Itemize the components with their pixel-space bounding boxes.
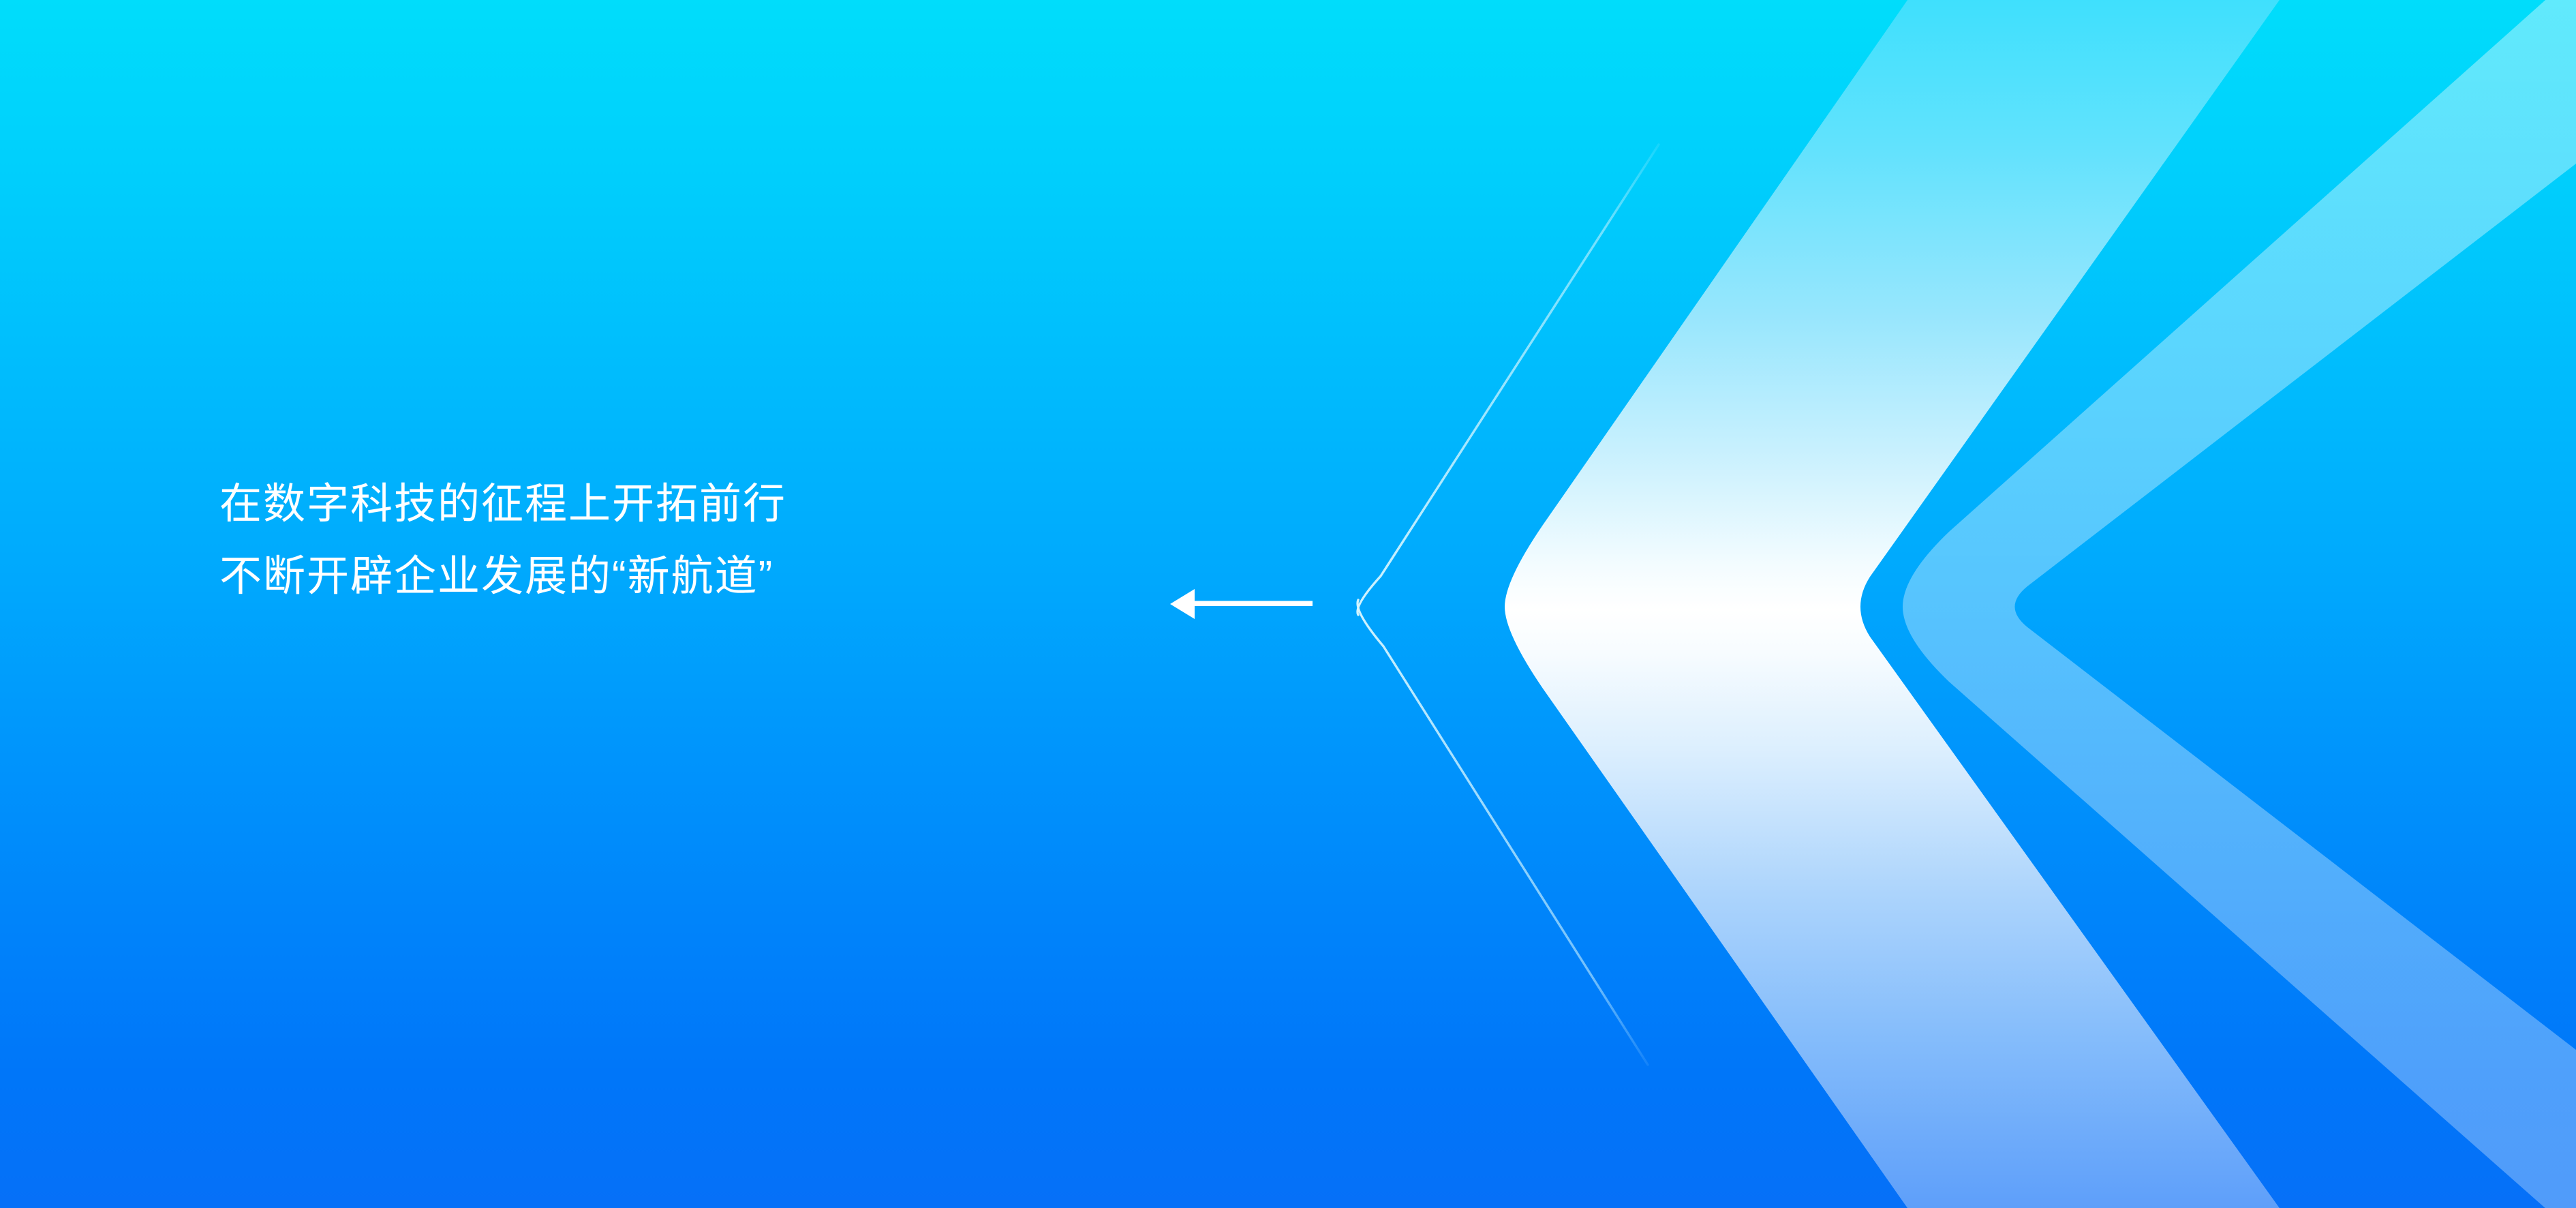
decorative-artwork-layer bbox=[0, 0, 2576, 1208]
headline-line-2: 不断开辟企业发展的“新航道” bbox=[219, 554, 786, 600]
banner-canvas: 在数字科技的征程上开拓前行 不断开辟企业发展的“新航道” bbox=[0, 0, 2576, 1208]
page-headline: 在数字科技的征程上开拓前行 不断开辟企业发展的“新航道” bbox=[219, 481, 786, 600]
chevron-band bbox=[1505, 0, 2284, 1208]
headline-line-1: 在数字科技的征程上开拓前行 bbox=[219, 481, 786, 528]
left-arrow-icon bbox=[1170, 589, 1313, 619]
